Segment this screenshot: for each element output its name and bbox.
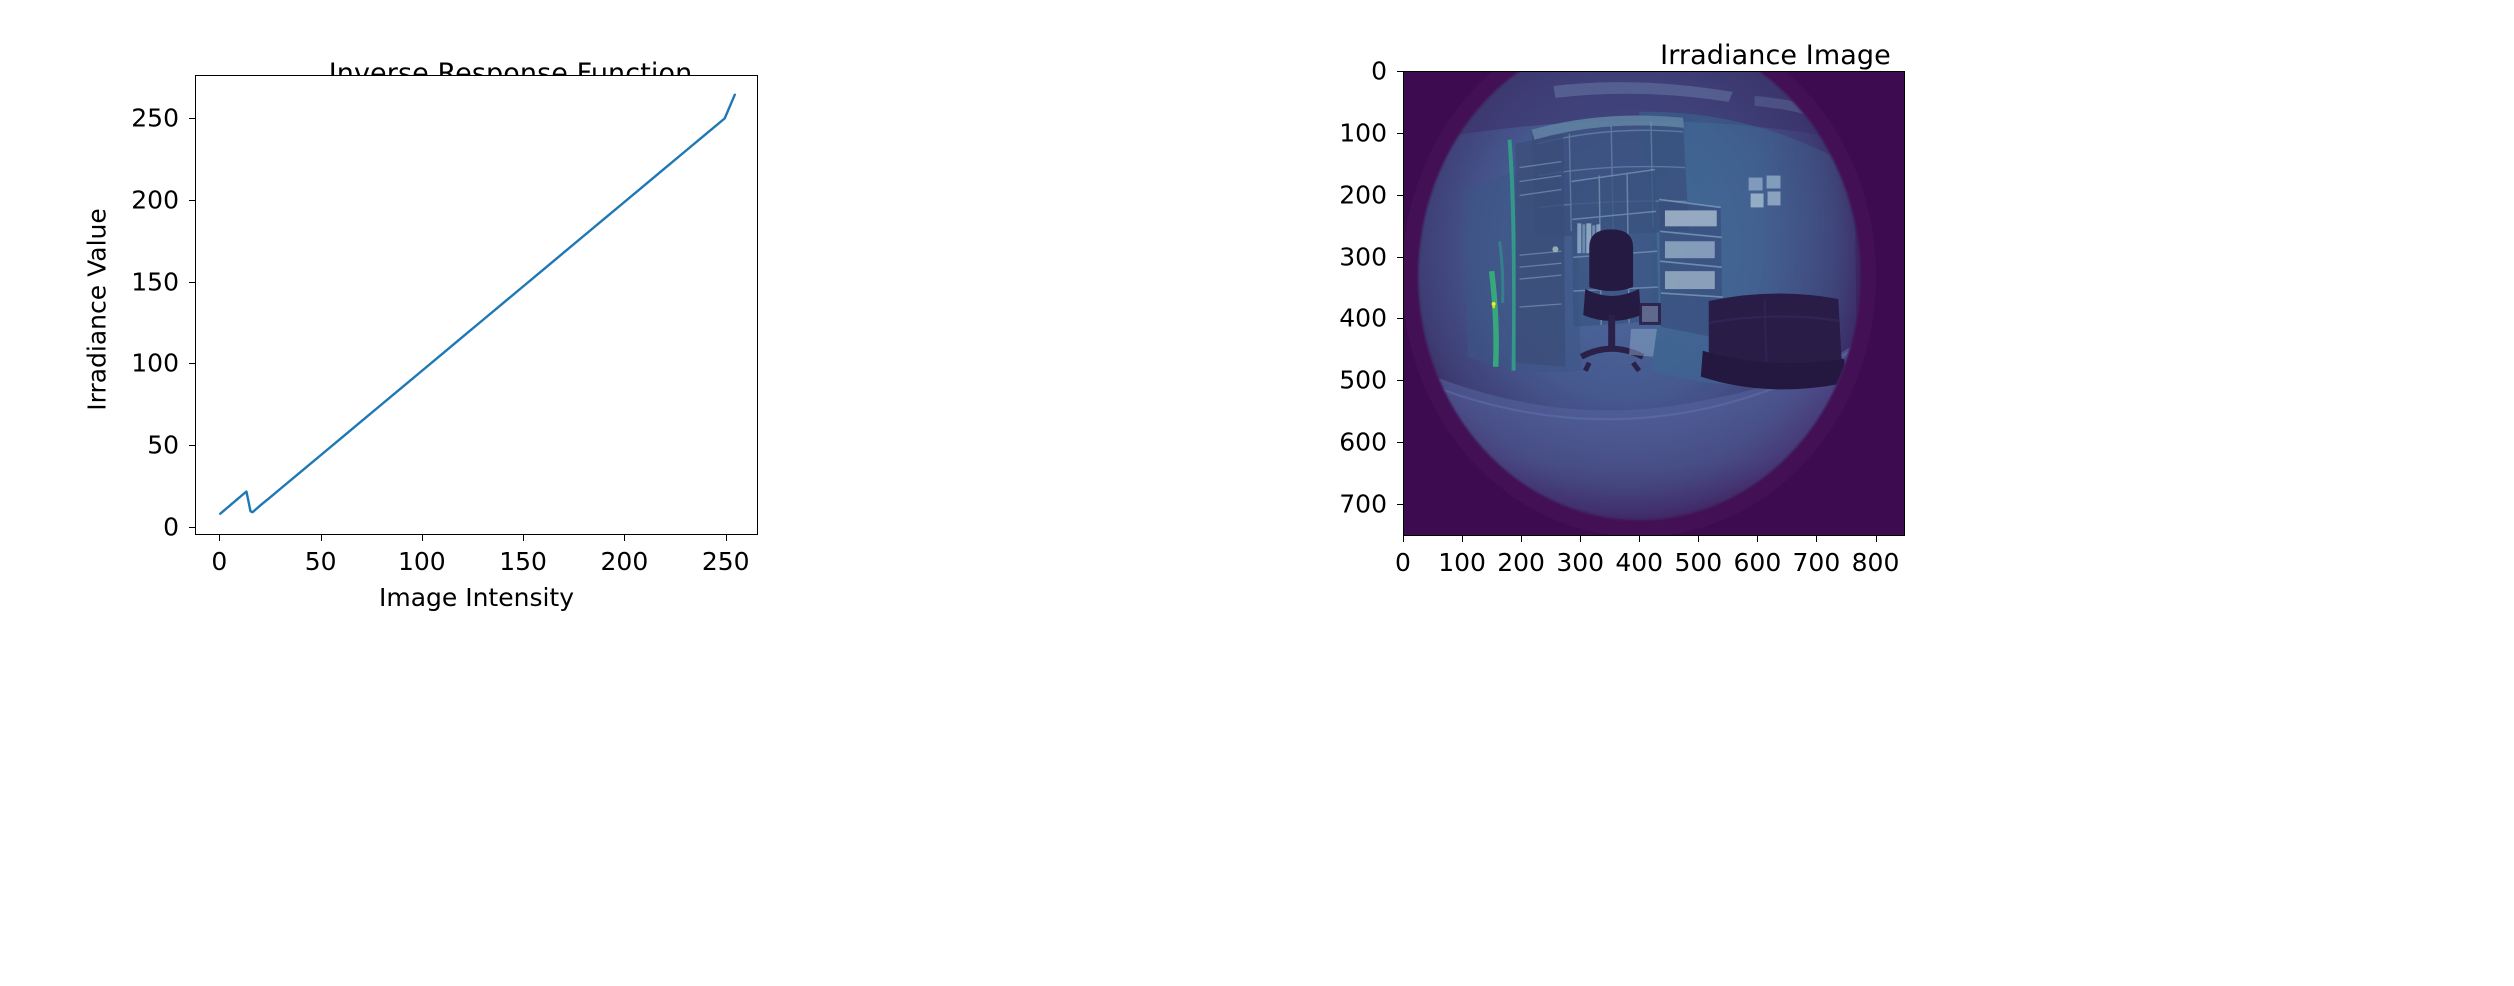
ytick-label-0: 0 [119, 513, 179, 542]
xtick-label-150: 150 [499, 547, 547, 576]
ytick-label-250: 250 [119, 103, 179, 132]
ytick-label-50: 50 [119, 431, 179, 460]
ytick-label-150: 150 [119, 267, 179, 296]
img-ytick-label-0: 0 [1327, 57, 1387, 86]
matplotlib-figure: Inverse Response Function 0 50 100 150 2… [0, 0, 2514, 986]
img-xtick-label-300: 300 [1556, 548, 1604, 577]
img-xtick-label-0: 0 [1395, 548, 1411, 577]
img-ytick-label-200: 200 [1327, 180, 1387, 209]
inverse-response-line-plot [196, 76, 757, 534]
img-ytick-label-600: 600 [1327, 427, 1387, 456]
img-ytick-label-700: 700 [1327, 489, 1387, 518]
img-xtick-label-800: 800 [1852, 548, 1900, 577]
img-ytick-label-500: 500 [1327, 366, 1387, 395]
img-xtick-label-400: 400 [1615, 548, 1663, 577]
response-curve-line [220, 95, 735, 514]
ytick-label-100: 100 [119, 349, 179, 378]
xtick-label-100: 100 [398, 547, 446, 576]
xaxis-label-image-intensity: Image Intensity [195, 583, 758, 612]
xtick-label-0: 0 [211, 547, 227, 576]
img-xtick-label-500: 500 [1674, 548, 1722, 577]
xtick-label-200: 200 [601, 547, 649, 576]
panel-inverse-response-function: Inverse Response Function 0 50 100 150 2… [0, 0, 1257, 986]
ytick-label-200: 200 [119, 185, 179, 214]
irradiance-image-raster [1404, 72, 1904, 535]
img-xtick-label-700: 700 [1793, 548, 1841, 577]
panel-irradiance-image: Irradiance Image [1257, 0, 2514, 986]
plot-area-inverse-response [195, 75, 758, 535]
img-xtick-label-200: 200 [1497, 548, 1545, 577]
img-xtick-label-600: 600 [1734, 548, 1782, 577]
yaxis-label-irradiance-value: Irradiance Value [83, 180, 112, 440]
plot-area-irradiance-image [1403, 71, 1905, 536]
img-ytick-label-100: 100 [1327, 119, 1387, 148]
xtick-label-250: 250 [702, 547, 750, 576]
xtick-label-50: 50 [305, 547, 337, 576]
img-ytick-label-300: 300 [1327, 242, 1387, 271]
img-ytick-label-400: 400 [1327, 304, 1387, 333]
img-xtick-label-100: 100 [1438, 548, 1486, 577]
